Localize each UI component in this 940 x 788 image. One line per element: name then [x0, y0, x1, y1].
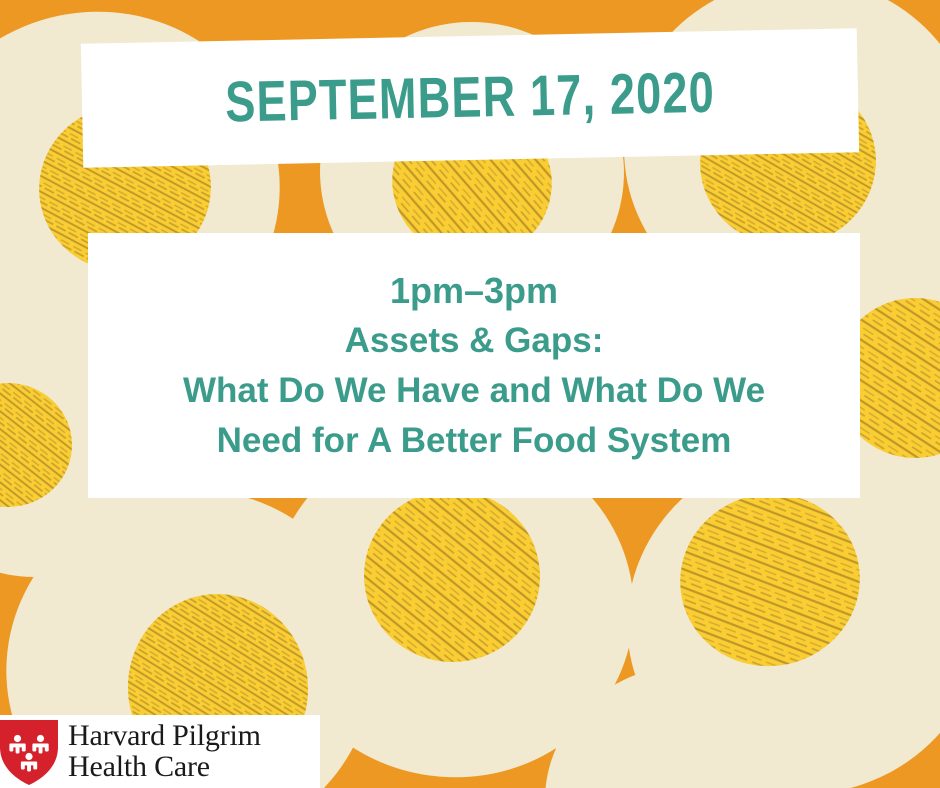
- harvard-pilgrim-logo: Harvard Pilgrim Health Care: [0, 715, 320, 788]
- event-details-panel: 1pm–3pm Assets & Gaps: What Do We Have a…: [88, 233, 860, 498]
- logo-wordmark-line-2: Health Care: [68, 752, 261, 783]
- event-time-text: 1pm–3pm: [390, 266, 558, 316]
- logo-wordmark: Harvard Pilgrim Health Care: [68, 721, 261, 782]
- shield-with-three-figures-icon: [0, 717, 60, 787]
- event-title-line-1: What Do We Have and What Do We: [183, 366, 765, 416]
- event-flyer: SEPTEMBER 17, 2020 1pm–3pm Assets & Gaps…: [0, 0, 940, 788]
- date-banner: SEPTEMBER 17, 2020: [81, 28, 859, 168]
- logo-wordmark-line-1: Harvard Pilgrim: [68, 721, 261, 752]
- event-subtitle-text: Assets & Gaps:: [345, 316, 604, 366]
- event-date-text: SEPTEMBER 17, 2020: [224, 58, 715, 135]
- event-title-line-2: Need for A Better Food System: [217, 416, 732, 466]
